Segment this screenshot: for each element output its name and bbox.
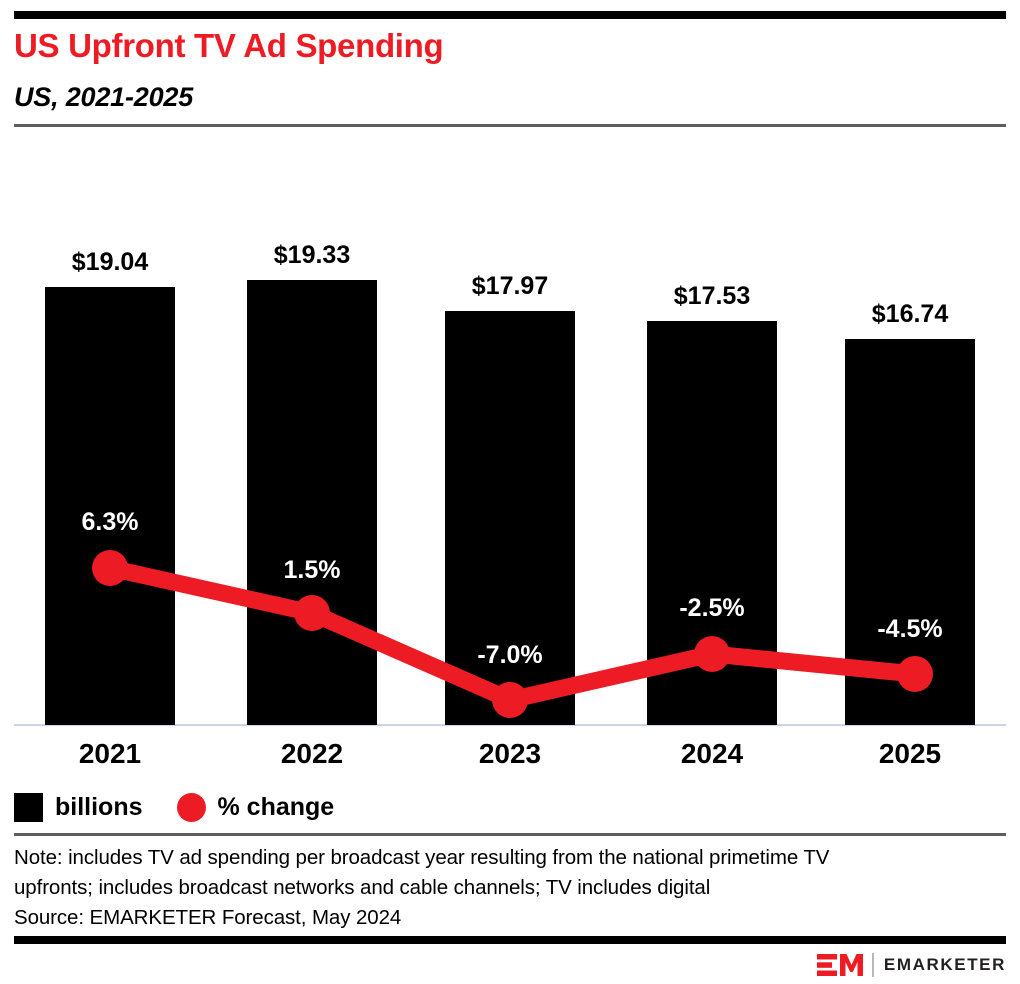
x-axis-label-2022: 2022 xyxy=(247,738,377,770)
pct-change-label-2022: 1.5% xyxy=(247,556,377,585)
note-line-2: upfronts; includes broadcast networks an… xyxy=(14,873,1004,903)
legend-item-pct-change: % change xyxy=(177,793,335,822)
legend-label-pct-change: % change xyxy=(218,793,335,822)
x-axis-label-2025: 2025 xyxy=(845,738,975,770)
circle-swatch-icon xyxy=(177,793,206,822)
brand-name: EMARKETER xyxy=(884,955,1006,975)
pct-change-label-2021: 6.3% xyxy=(45,508,175,537)
x-axis-label-2021: 2021 xyxy=(45,738,175,770)
x-axis-label-2024: 2024 xyxy=(647,738,777,770)
legend-label-billions: billions xyxy=(55,793,143,822)
note-line-1: Note: includes TV ad spending per broadc… xyxy=(14,843,1004,873)
legend-divider xyxy=(14,833,1006,836)
brand-divider xyxy=(872,953,874,977)
source-line: Source: EMARKETER Forecast, May 2024 xyxy=(14,903,1004,933)
pct-change-label-2024: -2.5% xyxy=(647,594,777,623)
pct-change-label-2023: -7.0% xyxy=(445,641,575,670)
legend-item-billions: billions xyxy=(14,793,143,822)
chart-plot-area: $19.04 $19.33 $17.97 $17.53 $16.74 6.3% … xyxy=(0,0,1020,760)
chart-page: US Upfront TV Ad Spending US, 2021-2025 … xyxy=(0,0,1020,984)
emarketer-mark-icon xyxy=(817,953,863,977)
chart-legend: billions % change xyxy=(14,791,368,823)
square-swatch-icon xyxy=(14,793,43,822)
brand-logo: EMARKETER xyxy=(817,952,1006,978)
x-axis-label-2023: 2023 xyxy=(445,738,575,770)
footnotes: Note: includes TV ad spending per broadc… xyxy=(14,843,1004,933)
bottom-rule xyxy=(14,936,1006,944)
pct-change-label-2025: -4.5% xyxy=(845,615,975,644)
